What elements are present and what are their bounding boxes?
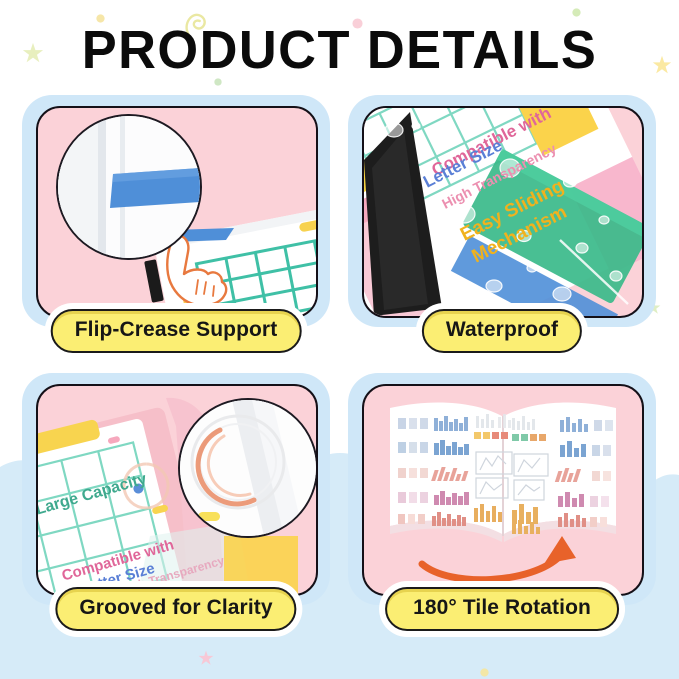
magnifier-crease-detail [56,114,202,260]
rotation-arrow-icon [422,536,576,580]
panel-card [36,106,318,318]
tile-rotation-illustration [364,386,642,594]
panel-card: Large Capacity Compatible with Letter Si… [36,384,318,596]
panel-label-flip-crease-support[interactable]: Flip-Crease Support [51,309,302,353]
magnifier-groove-detail [178,398,316,538]
infographic-canvas: PRODUCT DETAILS [0,0,679,679]
feature-panel-grid: Flip-Crease Support [0,95,679,655]
panel-flip-crease-support[interactable]: Flip-Crease Support [22,95,330,347]
panel-tile-rotation[interactable]: 180° Tile Rotation [348,373,656,625]
confetti-dot-4 [572,8,581,17]
panel-label-tile-rotation[interactable]: 180° Tile Rotation [385,587,619,631]
panel-card: Compatible with Letter Size High Transpa… [362,106,644,318]
panel-label-waterproof[interactable]: Waterproof [422,309,582,353]
panel-grooved-for-clarity[interactable]: Large Capacity Compatible with Letter Si… [22,373,330,625]
panel-label-grooved-for-clarity[interactable]: Grooved for Clarity [55,587,296,631]
panel-card [362,384,644,596]
panel-waterproof[interactable]: Compatible with Letter Size High Transpa… [348,95,656,347]
page-title: PRODUCT DETAILS [10,20,669,80]
open-book [390,402,616,542]
